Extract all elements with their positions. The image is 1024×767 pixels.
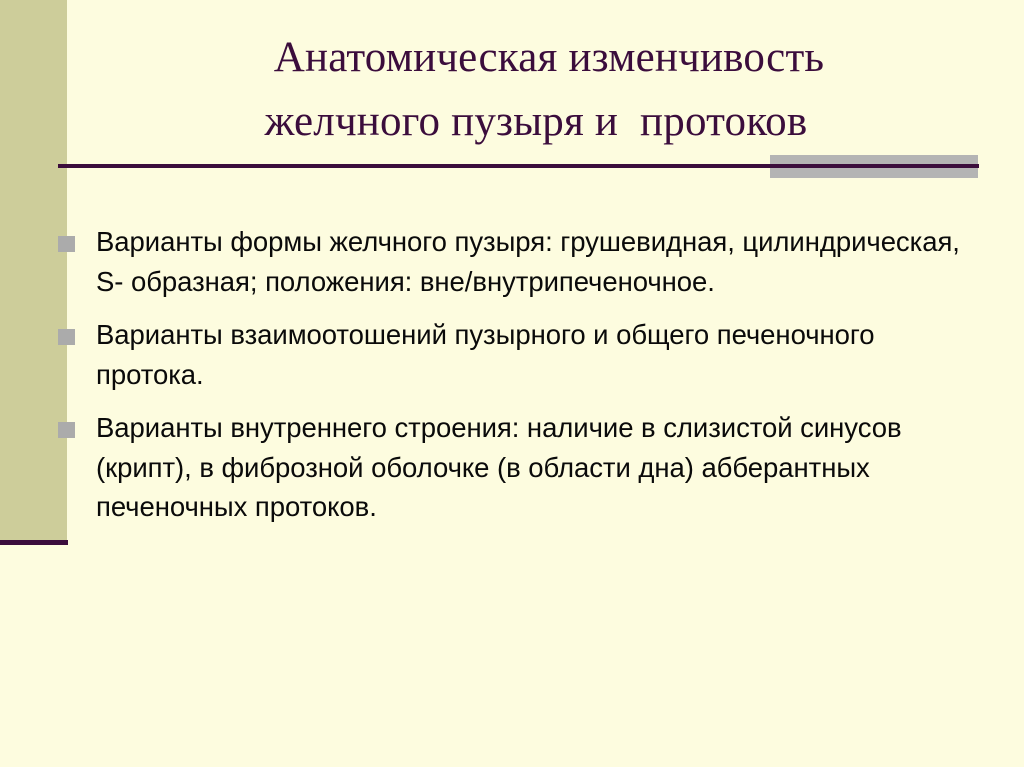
list-item: Варианты взаимоотошений пузырного и обще… — [58, 315, 988, 394]
list-item-text: Варианты взаимоотошений пузырного и обще… — [96, 315, 988, 394]
slide-title: Анатомическая изменчивость желчного пузы… — [86, 26, 986, 156]
slide-title-line-1: Анатомическая изменчивость — [86, 26, 986, 90]
list-item-text: Варианты формы желчного пузыря: грушевид… — [96, 222, 988, 301]
square-bullet-icon — [58, 236, 75, 252]
slide-canvas: Анатомическая изменчивость желчного пузы… — [0, 0, 1024, 767]
square-bullet-icon — [58, 329, 75, 345]
list-item: Варианты формы желчного пузыря: грушевид… — [58, 222, 988, 301]
left-decorative-band — [0, 0, 67, 540]
list-item-text: Варианты внутреннего строения: наличие в… — [96, 408, 988, 527]
square-bullet-icon — [58, 422, 75, 438]
left-band-bottom-rule — [0, 540, 68, 545]
slide-body: Варианты формы желчного пузыря: грушевид… — [58, 222, 988, 541]
title-divider-rule — [58, 164, 979, 168]
slide-title-line-2: желчного пузыря и протоков — [86, 90, 986, 154]
list-item: Варианты внутреннего строения: наличие в… — [58, 408, 988, 527]
